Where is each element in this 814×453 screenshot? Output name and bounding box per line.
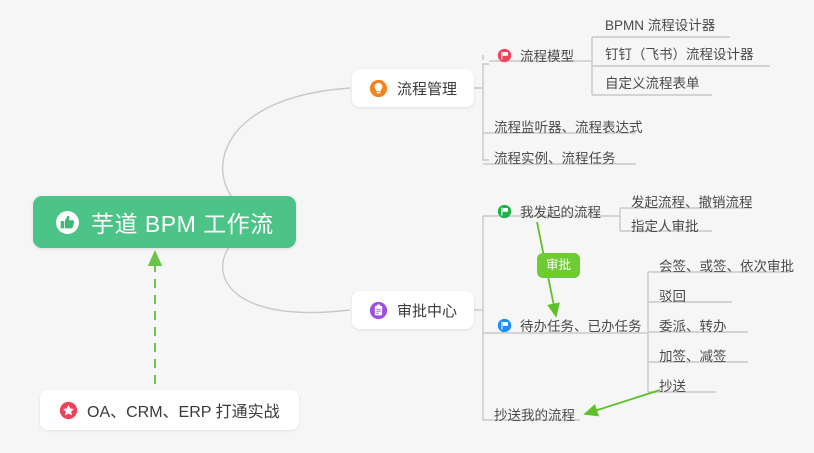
grandchild-node-countersign[interactable]: 会签、或签、依次审批 xyxy=(654,253,799,279)
flag-icon-blue xyxy=(497,318,512,333)
root-label: 芋道 BPM 工作流 xyxy=(91,205,274,239)
grandchild-node-reject[interactable]: 驳回 xyxy=(654,283,691,309)
integration-note-label: OA、CRM、ERP 打通实战 xyxy=(87,398,280,422)
mindmap-canvas: 芋道 BPM 工作流 OA、CRM、ERP 打通实战 流程管理 xyxy=(0,0,814,453)
child-node-process-model[interactable]: 流程模型 xyxy=(492,43,579,69)
approval-tag-badge[interactable]: 审批 xyxy=(537,253,580,278)
branch-node-process-management[interactable]: 流程管理 xyxy=(352,69,474,107)
flag-icon-green xyxy=(497,204,512,219)
thumbs-up-icon xyxy=(55,210,80,235)
grandchild-node-bpmn-designer[interactable]: BPMN 流程设计器 xyxy=(600,12,720,38)
flag-icon-red xyxy=(497,48,512,63)
child-node-cc-to-me[interactable]: 抄送我的流程 xyxy=(489,402,580,428)
child-label-process-model: 流程模型 xyxy=(520,45,574,65)
root-node[interactable]: 芋道 BPM 工作流 xyxy=(33,196,296,248)
grandchild-node-dingtalk-feishu-designer[interactable]: 钉钉（飞书）流程设计器 xyxy=(600,41,759,67)
child-node-todo-done-tasks[interactable]: 待办任务、已办任务 xyxy=(492,313,647,339)
child-node-instance-task[interactable]: 流程实例、流程任务 xyxy=(489,145,621,171)
child-label-todo-done-tasks: 待办任务、已办任务 xyxy=(520,315,642,335)
lightbulb-icon xyxy=(369,79,388,98)
star-icon xyxy=(59,401,78,420)
grandchild-node-start-cancel[interactable]: 发起流程、撤销流程 xyxy=(626,189,758,215)
grandchild-node-cc[interactable]: 抄送 xyxy=(654,373,691,399)
grandchild-node-add-remove-sign[interactable]: 加签、减签 xyxy=(654,343,732,369)
branch-label-approval-center: 审批中心 xyxy=(397,300,457,321)
child-node-listener-expression[interactable]: 流程监听器、流程表达式 xyxy=(489,114,648,140)
grandchild-node-delegate-transfer[interactable]: 委派、转办 xyxy=(654,313,732,339)
branch-node-approval-center[interactable]: 审批中心 xyxy=(352,291,474,329)
grandchild-node-assignee-approval[interactable]: 指定人审批 xyxy=(626,213,704,239)
grandchild-node-custom-process-form[interactable]: 自定义流程表单 xyxy=(600,70,705,96)
child-label-my-initiated: 我发起的流程 xyxy=(520,201,601,221)
integration-note-node[interactable]: OA、CRM、ERP 打通实战 xyxy=(40,390,299,430)
arrow-cc-to-ccme xyxy=(585,390,660,414)
child-node-my-initiated[interactable]: 我发起的流程 xyxy=(492,199,606,225)
branch-label-process-management: 流程管理 xyxy=(397,78,457,99)
clipboard-icon xyxy=(369,301,388,320)
